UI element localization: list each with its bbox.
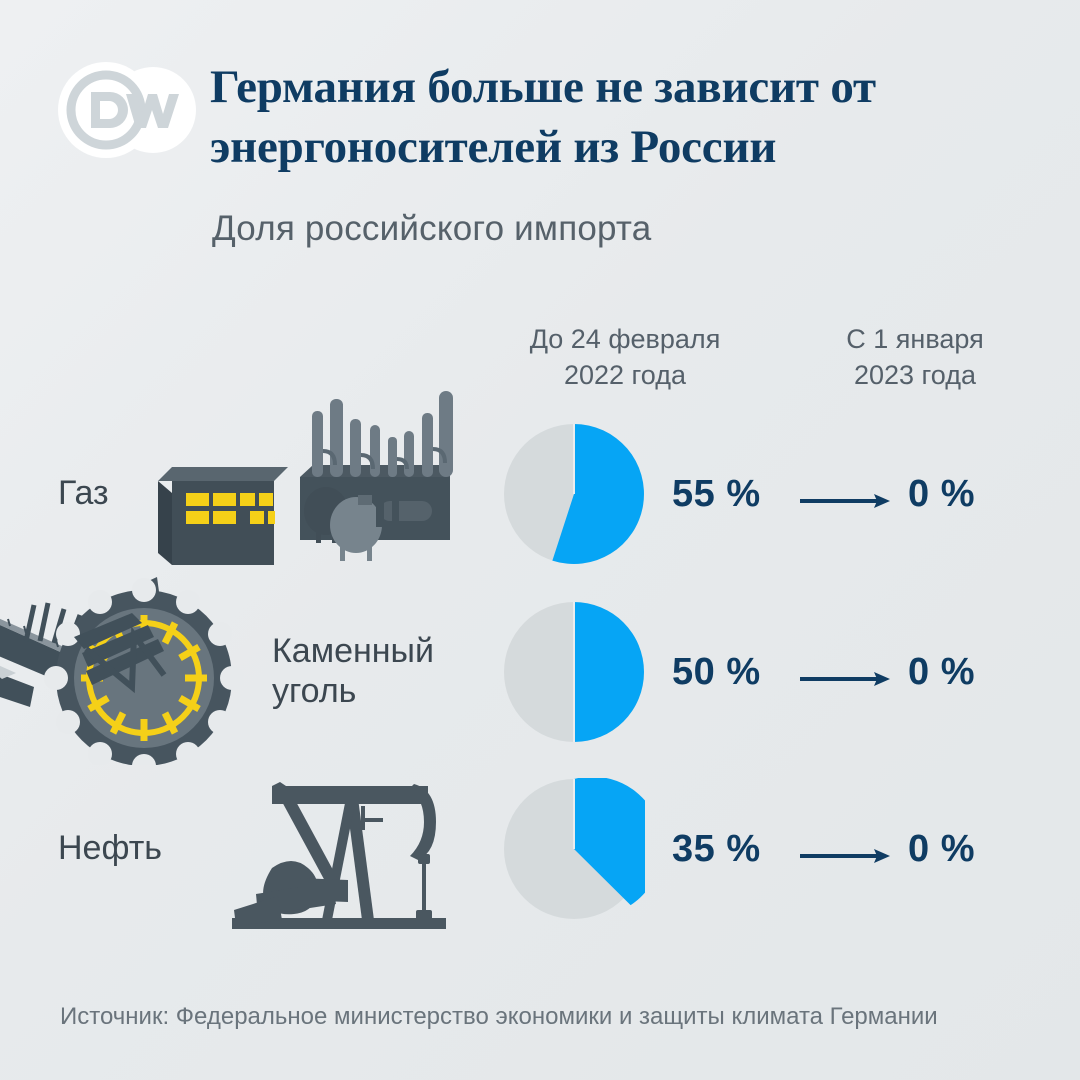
bucket-wheel-excavator-illustration xyxy=(0,575,272,770)
value-after-oil: 0 % xyxy=(908,828,975,871)
column-header-after: С 1 января 2023 года xyxy=(800,322,1030,393)
transition-arrow-icon xyxy=(800,669,890,689)
row-label-coal: Каменный уголь xyxy=(272,631,434,711)
oil-pumpjack-illustration xyxy=(228,770,478,945)
column-header-before: До 24 февраля 2022 года xyxy=(490,322,760,393)
value-after-coal: 0 % xyxy=(908,651,975,694)
value-after-gas: 0 % xyxy=(908,473,975,516)
pie-chart-coal xyxy=(503,601,645,743)
source-note: Источник: Федеральное министерство эконо… xyxy=(60,1000,1010,1034)
transition-arrow-icon xyxy=(800,491,890,511)
gas-plant-illustration xyxy=(140,385,470,580)
pie-chart-gas xyxy=(503,423,645,565)
transition-arrow-icon xyxy=(800,846,890,866)
value-before-coal: 50 % xyxy=(672,651,761,694)
row-oil: Нефть xyxy=(0,770,1080,930)
page-subtitle: Доля российского импорта xyxy=(212,209,651,249)
value-before-gas: 55 % xyxy=(672,473,761,516)
header: Германия больше не зависит от энергоноси… xyxy=(0,0,1080,290)
pie-chart-oil xyxy=(503,778,645,920)
row-coal: Каменный уголь xyxy=(0,593,1080,753)
row-label-oil: Нефть xyxy=(58,828,162,868)
page-title: Германия больше не зависит от энергоноси… xyxy=(210,58,1040,177)
row-label-gas: Газ xyxy=(58,473,109,513)
value-before-oil: 35 % xyxy=(672,828,761,871)
row-gas: Газ xyxy=(0,415,1080,575)
dw-logo[interactable] xyxy=(56,58,196,162)
